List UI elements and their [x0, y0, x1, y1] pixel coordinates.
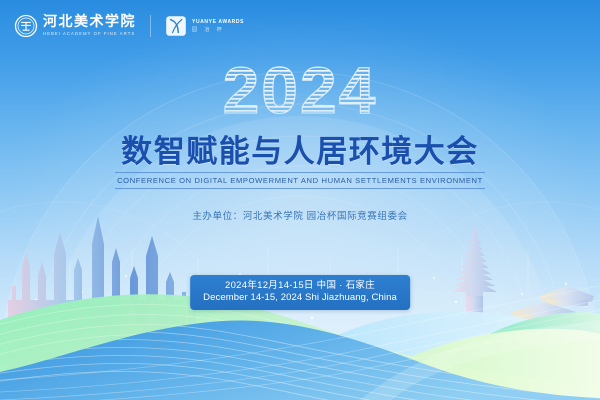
date-badge-cn: 2024年12月14-15日 中国 · 石家庄: [203, 280, 397, 292]
logo-bar: 河北美术学院 HEBEI ACADEMY OF FINE ARTS YUANYE…: [14, 14, 234, 38]
yuanye-award-mark-icon: [165, 15, 187, 37]
primary-logo-en: HEBEI ACADEMY OF FINE ARTS: [43, 32, 153, 36]
page-title: 数智赋能与人居环境大会: [0, 126, 600, 171]
secondary-logo[interactable]: YUANYE AWARDS 园 冶 杯: [165, 15, 234, 37]
primary-logo-cn: 河北美术学院: [43, 16, 136, 30]
primary-logo[interactable]: 河北美术学院 HEBEI ACADEMY OF FINE ARTS: [14, 14, 136, 38]
secondary-logo-en: YUANYE AWARDS: [192, 19, 244, 25]
year-heading: 2024: [0, 58, 600, 125]
svg-text:2024: 2024: [223, 58, 378, 120]
secondary-logo-cn: 园 冶 杯: [192, 27, 244, 33]
subtitle-rule-top: [115, 172, 485, 173]
hebei-academy-seal-icon: [14, 14, 38, 38]
date-badge-en: December 14-15, 2024 Shi Jiazhuang, Chin…: [203, 292, 397, 304]
subtitle-rule-bottom: [115, 188, 485, 189]
page-subtitle: CONFERENCE ON DIGITAL EMPOWERMENT AND HU…: [117, 173, 483, 188]
date-badge: 2024年12月14-15日 中国 · 石家庄 December 14-15, …: [190, 275, 410, 310]
conference-banner: 河北美术学院 HEBEI ACADEMY OF FINE ARTS YUANYE…: [0, 0, 600, 400]
banner-content: 2024 数智赋能与人居环境大会 CONFERENCE ON DIGITAL E…: [0, 0, 600, 400]
organizer-line: 主办单位：河北美术学院 园冶杯国际竞赛组委会: [0, 208, 600, 222]
subtitle-block: CONFERENCE ON DIGITAL EMPOWERMENT AND HU…: [0, 172, 600, 189]
